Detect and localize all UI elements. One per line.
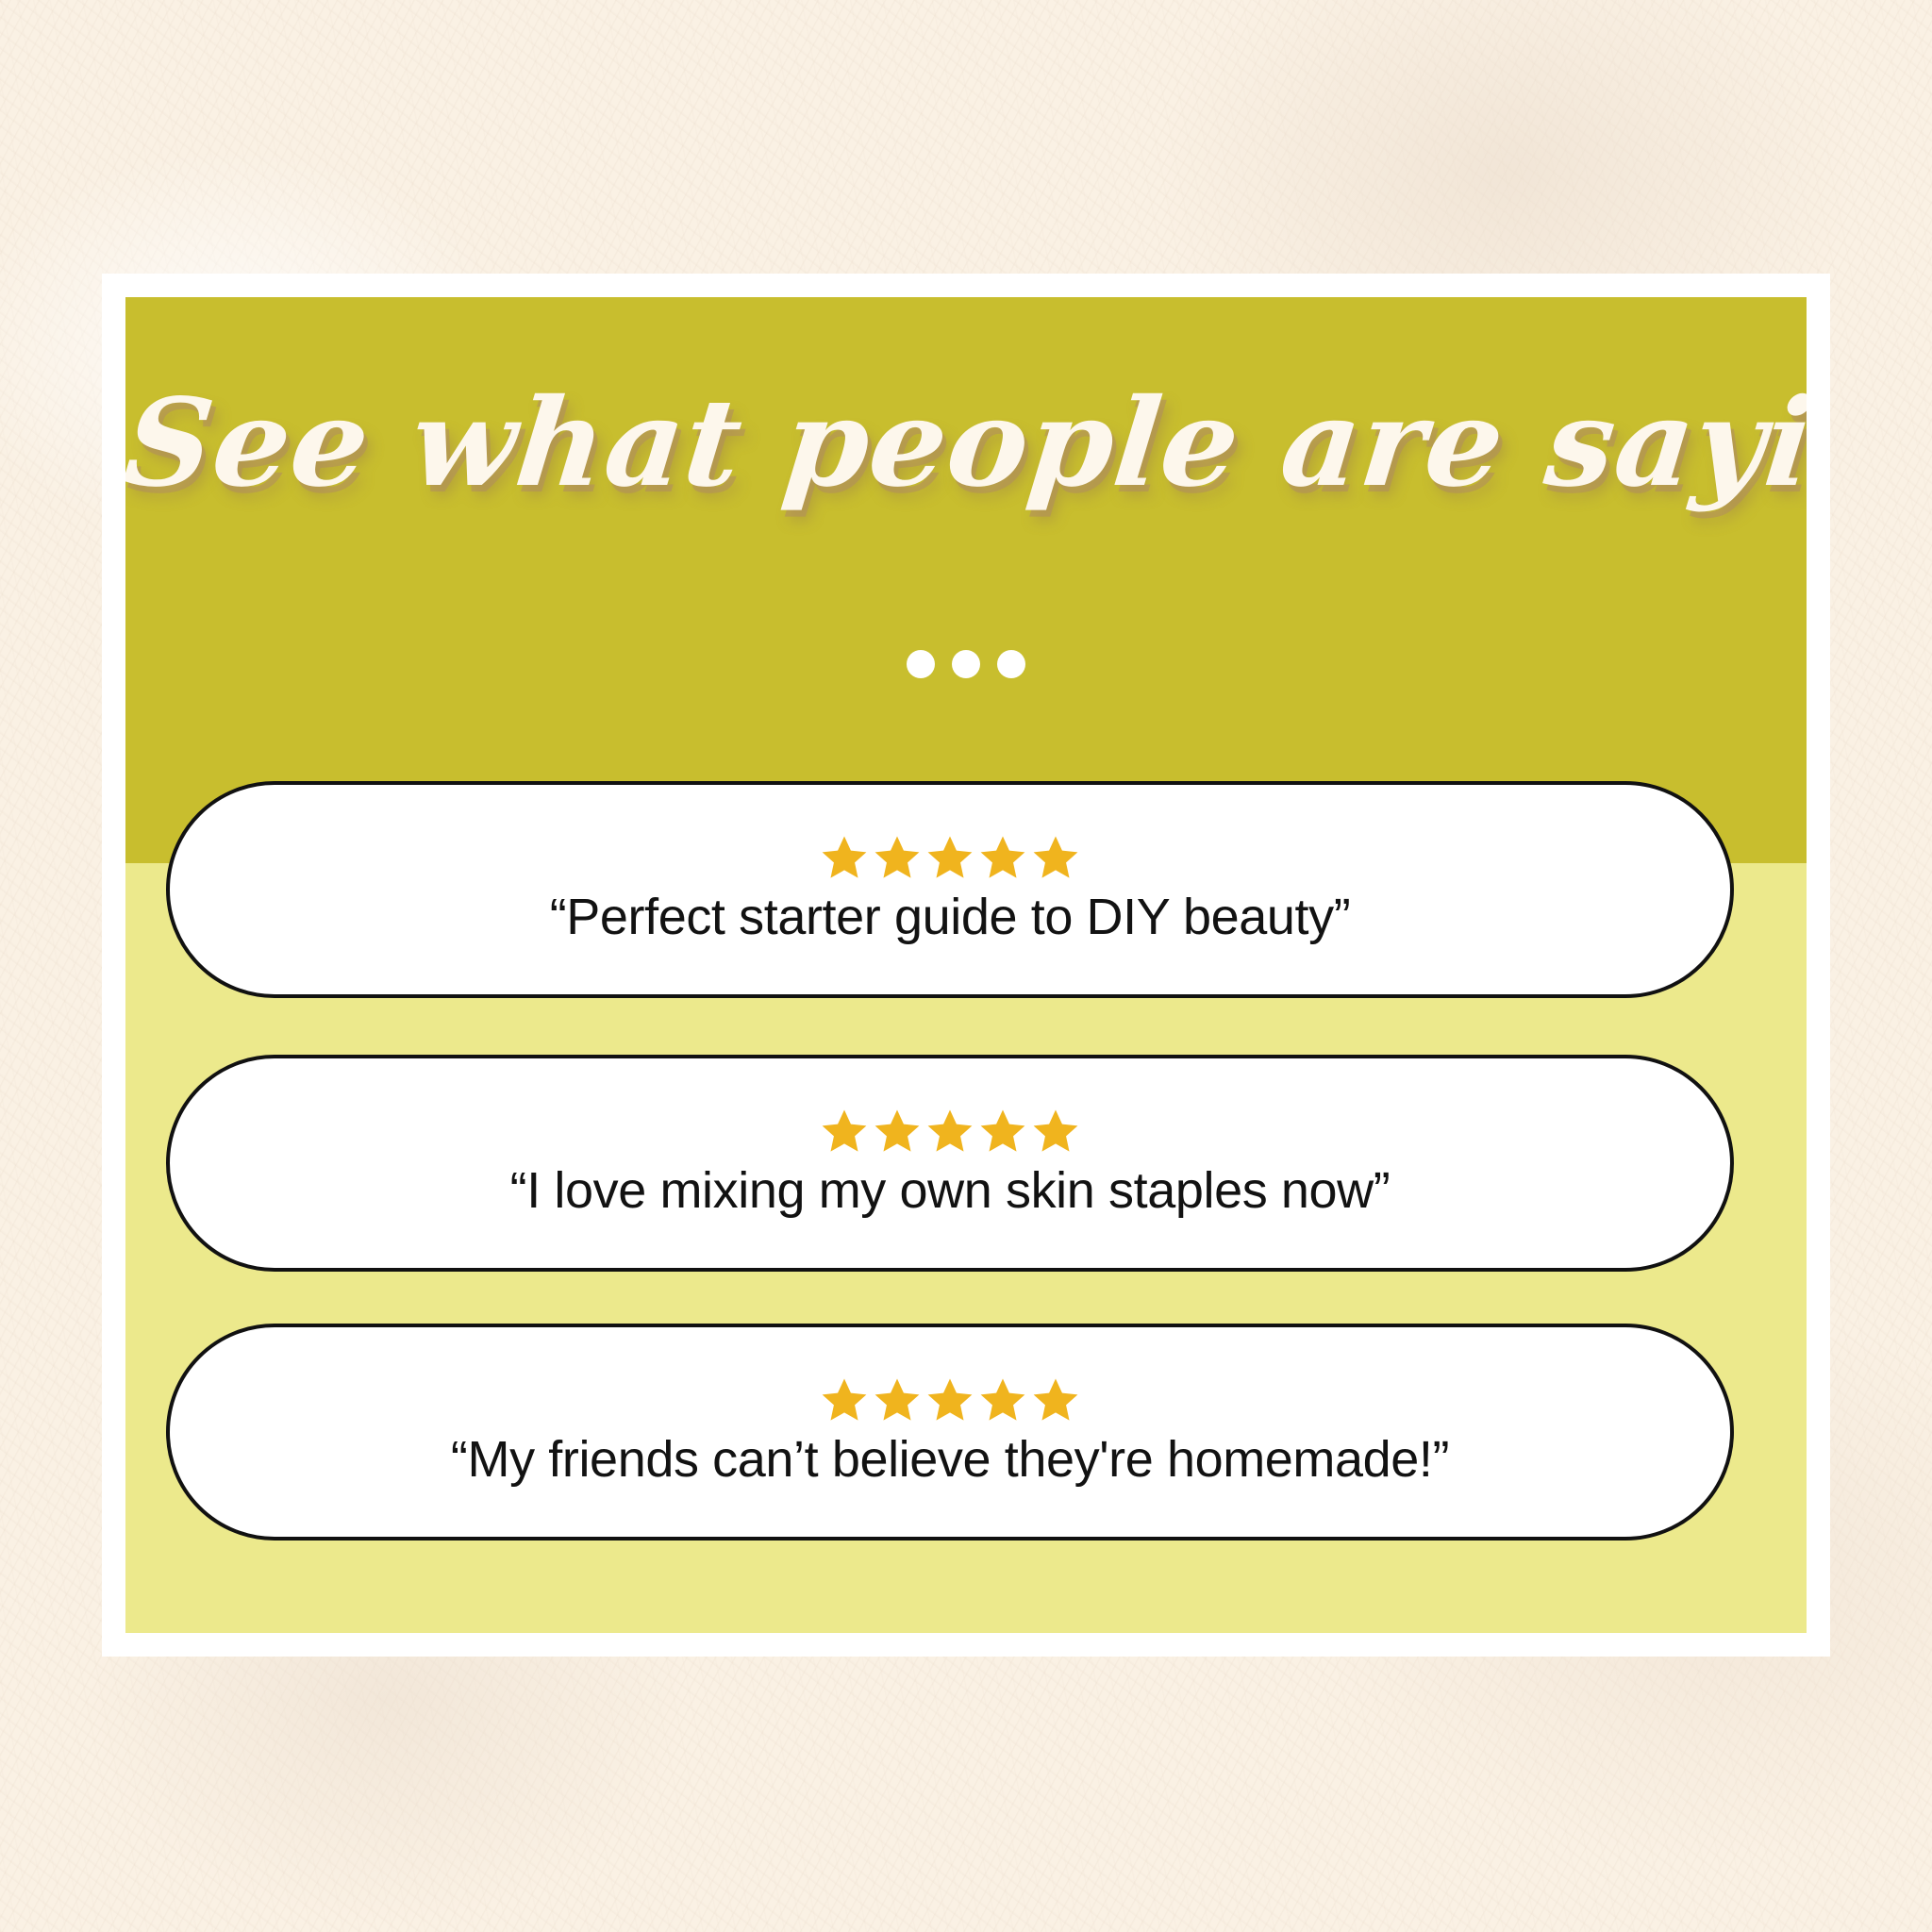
testimonial-list: “Perfect starter guide to DIY beauty” “I… <box>125 297 1807 1633</box>
star-icon <box>978 833 1027 882</box>
star-icon <box>820 833 869 882</box>
testimonial-card: “I love mixing my own skin staples now” <box>166 1055 1734 1272</box>
star-icon <box>873 1375 922 1424</box>
poster-root: See what people are saying <box>0 0 1932 1932</box>
star-icon <box>820 1107 869 1156</box>
star-icon <box>978 1107 1027 1156</box>
star-rating <box>820 1107 1080 1156</box>
star-icon <box>925 1375 974 1424</box>
star-rating <box>820 833 1080 882</box>
star-icon <box>1031 1375 1080 1424</box>
star-icon <box>978 1375 1027 1424</box>
star-icon <box>820 1375 869 1424</box>
testimonial-card: “My friends can’t believe they're homema… <box>166 1324 1734 1541</box>
star-icon <box>925 1107 974 1156</box>
star-icon <box>925 833 974 882</box>
star-rating <box>820 1375 1080 1424</box>
poster-white-frame: See what people are saying <box>102 274 1830 1657</box>
testimonial-quote: “My friends can’t believe they're homema… <box>451 1430 1449 1489</box>
star-icon <box>873 1107 922 1156</box>
star-icon <box>1031 833 1080 882</box>
testimonial-card: “Perfect starter guide to DIY beauty” <box>166 781 1734 998</box>
testimonial-quote: “I love mixing my own skin staples now” <box>510 1161 1391 1220</box>
star-icon <box>1031 1107 1080 1156</box>
poster-inner-panel: See what people are saying <box>125 297 1807 1633</box>
testimonial-quote: “Perfect starter guide to DIY beauty” <box>550 888 1351 946</box>
star-icon <box>873 833 922 882</box>
